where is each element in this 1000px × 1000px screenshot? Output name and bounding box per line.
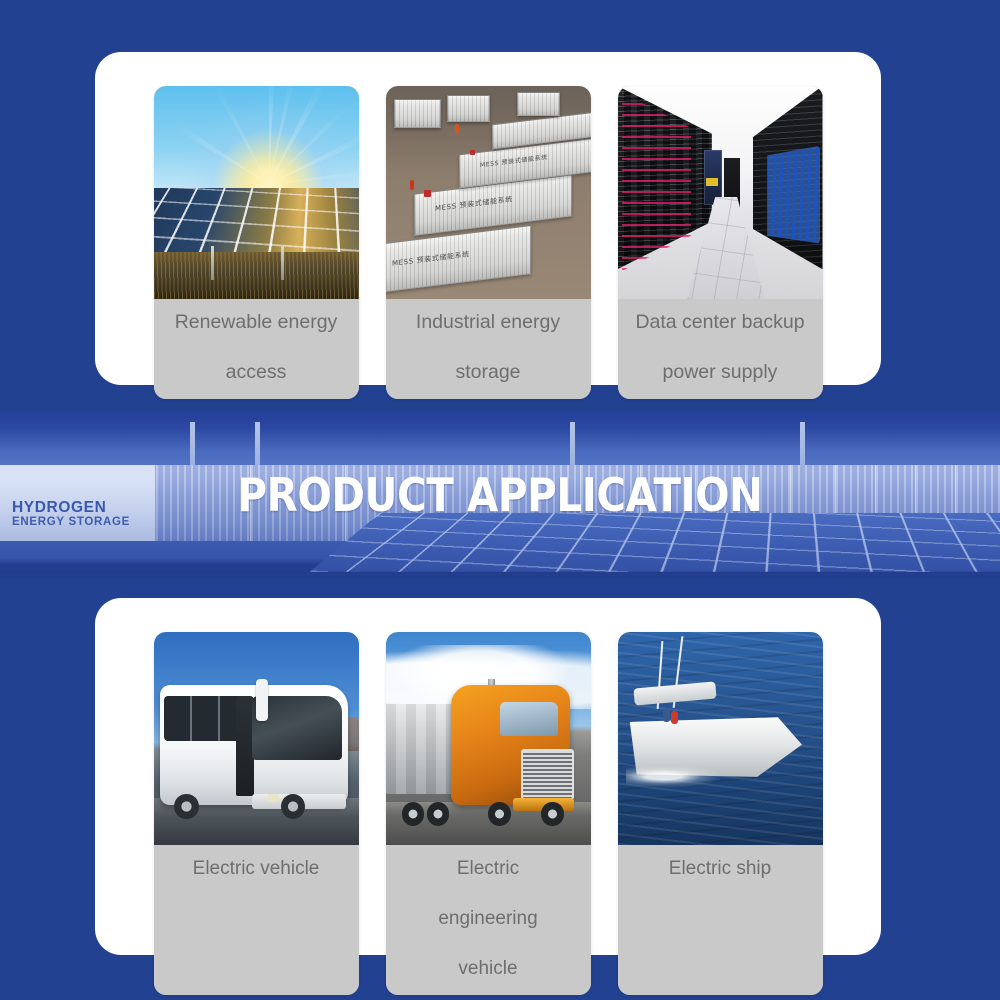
card-renewable-energy-access[interactable]: Renewable energyaccess [154,86,359,399]
card-label-line2: power supply [635,360,804,385]
card-label: Electricengineeringvehicle [386,845,591,995]
product-application-banner: HYDROGEN ENERGY STORAGE PRODUCT APPLICAT… [0,412,1000,578]
card-electric-vehicle[interactable]: Electric vehicle [154,632,359,995]
top-cards-panel: Renewable energyaccess MESS 预装式储能系统 MESS… [95,52,881,385]
card-label: Data center backuppower supply [618,299,823,399]
solar-farm-image [154,86,359,299]
card-label: Electric vehicle [154,845,359,995]
data-center-image [618,86,823,299]
card-data-center-backup-power-supply[interactable]: Data center backuppower supply [618,86,823,399]
card-label-line2: access [175,360,338,385]
card-label-line1: Electric vehicle [193,856,320,881]
card-label-line2: storage [416,360,560,385]
bottom-card-row: Electric vehicle [95,632,881,995]
bottom-cards-panel: Electric vehicle [95,598,881,955]
banner-title: PRODUCT APPLICATION [60,468,940,522]
card-electric-engineering-vehicle[interactable]: Electricengineeringvehicle [386,632,591,995]
top-card-row: Renewable energyaccess MESS 预装式储能系统 MESS… [95,86,881,399]
card-label-line2: engineering [438,906,537,931]
electric-boat-image [618,632,823,845]
electric-truck-image [386,632,591,845]
card-label: Electric ship [618,845,823,995]
card-label-line1: Data center backup [635,310,804,335]
card-label: Industrial energystorage [386,299,591,399]
electric-bus-image [154,632,359,845]
card-electric-ship[interactable]: Electric ship [618,632,823,995]
card-label: Renewable energyaccess [154,299,359,399]
card-label-line1: Electric [438,856,537,881]
card-label-line1: Electric ship [669,856,771,881]
card-label-line1: Industrial energy [416,310,560,335]
battery-container-image: MESS 预装式储能系统 MESS 预装式储能系统 MESS 预装式储能系统 [386,86,591,299]
card-label-line3: vehicle [438,956,537,981]
card-label-line1: Renewable energy [175,310,338,335]
card-industrial-energy-storage[interactable]: MESS 预装式储能系统 MESS 预装式储能系统 MESS 预装式储能系统 [386,86,591,399]
